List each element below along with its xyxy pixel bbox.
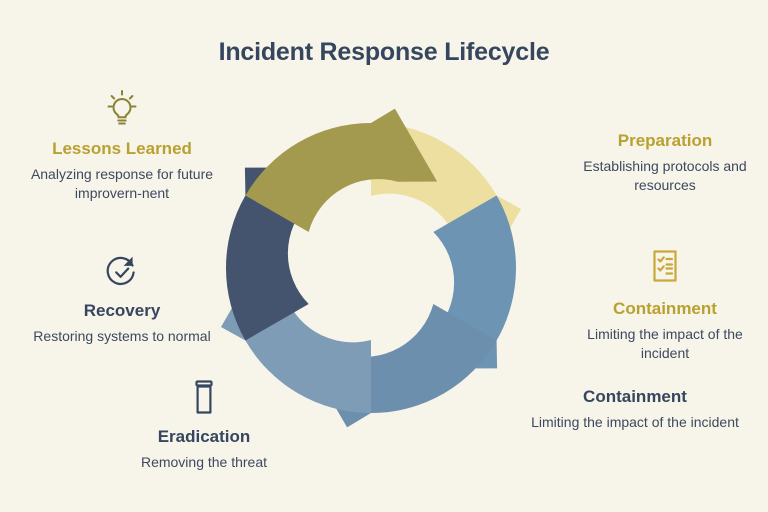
stage-containment-gold: Containment Limiting the impact of the i… xyxy=(570,248,760,363)
stage-heading: Lessons Learned xyxy=(22,138,222,159)
stage-description: Establishing protocols and resources xyxy=(570,157,760,195)
stage-eradication: Eradication Removing the threat xyxy=(104,376,304,472)
lightbulb-icon xyxy=(99,88,145,132)
stage-preparation: Preparation Establishing protocols and r… xyxy=(570,130,760,195)
stage-lessons-learned: Lessons Learned Analyzing response for f… xyxy=(22,88,222,203)
stage-heading: Preparation xyxy=(570,130,760,151)
stage-description: Restoring systems to normal xyxy=(22,327,222,346)
stage-heading: Containment xyxy=(570,298,760,319)
stage-description: Analyzing response for future improvern-… xyxy=(22,165,222,203)
checklist-clipboard-icon xyxy=(642,248,688,292)
trash-bin-icon xyxy=(181,376,227,420)
stage-description: Limiting the impact of the incident xyxy=(570,325,760,363)
stage-heading: Eradication xyxy=(104,426,304,447)
stage-heading: Containment xyxy=(520,386,750,407)
stage-description: Limiting the impact of the incident xyxy=(520,413,750,432)
page-title: Incident Response Lifecycle xyxy=(0,38,768,67)
stage-recovery: Recovery Restoring systems to normal xyxy=(22,250,222,346)
stage-description: Removing the threat xyxy=(104,453,304,472)
refresh-check-icon xyxy=(99,250,145,294)
infographic-canvas: Incident Response Lifecycle xyxy=(0,0,768,512)
stage-heading: Recovery xyxy=(22,300,222,321)
stage-containment-navy: Containment Limiting the impact of the i… xyxy=(520,386,750,432)
